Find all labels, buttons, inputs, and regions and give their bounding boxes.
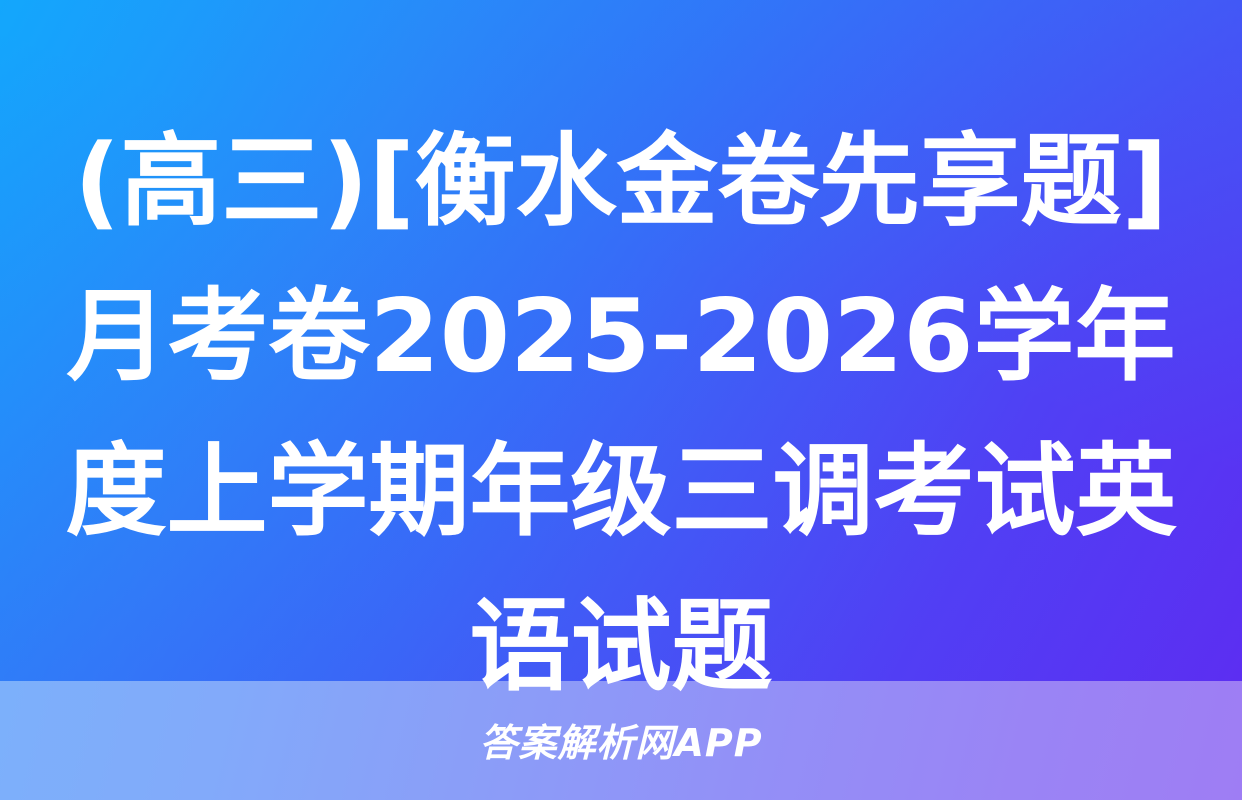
footer-brand-label: 答案解析网APP [479,724,762,762]
title-line-3: 度上学期年级三调考试英 [40,414,1202,569]
exam-cover-card: (高三)[衡水金卷先享题] 月考卷2025-2026学年 度上学期年级三调考试英… [0,0,1242,800]
title-line-2: 月考卷2025-2026学年 [40,259,1202,414]
title-line-1: (高三)[衡水金卷先享题] [40,104,1202,259]
page-title: (高三)[衡水金卷先享题] 月考卷2025-2026学年 度上学期年级三调考试英… [0,104,1242,724]
title-line-4: 语试题 [40,569,1202,724]
